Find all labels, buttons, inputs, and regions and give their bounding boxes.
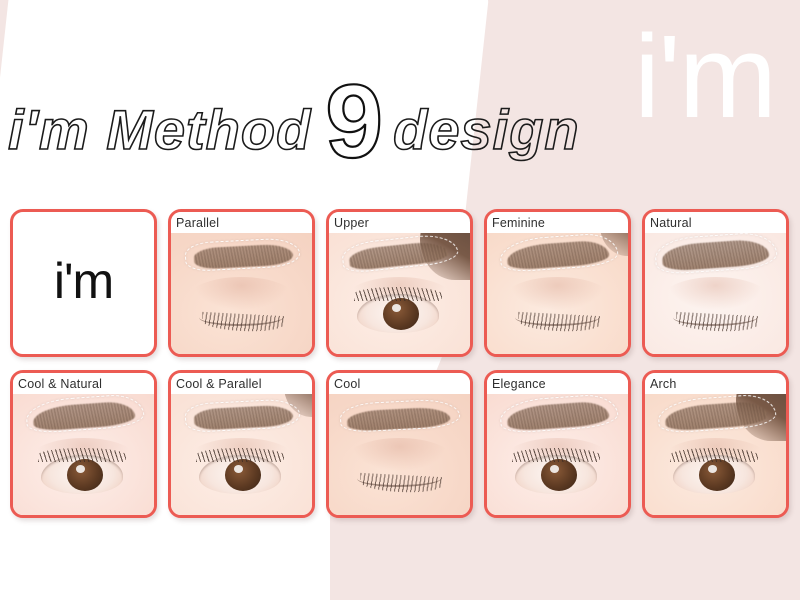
design-card-arch[interactable]: Arch xyxy=(642,370,789,518)
open-eyelashes xyxy=(196,448,283,462)
eyebrow-photo xyxy=(171,212,312,354)
iris xyxy=(699,459,735,490)
open-eyelashes xyxy=(354,287,441,301)
design-grid: i'm Parallel xyxy=(10,209,791,518)
design-card-label: Upper xyxy=(329,212,470,233)
design-card-label: Parallel xyxy=(171,212,312,233)
design-card-label: Cool & Parallel xyxy=(171,373,312,394)
design-card-label: Elegance xyxy=(487,373,628,394)
open-eyelashes xyxy=(38,448,125,462)
poster-root: i'm i'm Method 9 design i'm xyxy=(0,0,800,600)
open-eyelashes xyxy=(512,448,599,462)
design-card-cool[interactable]: Cool xyxy=(326,370,473,518)
eyebrow-photo xyxy=(171,373,312,515)
design-card-label: Feminine xyxy=(487,212,628,233)
design-card-cool-parallel[interactable]: Cool & Parallel xyxy=(168,370,315,518)
design-card-label: Natural xyxy=(645,212,786,233)
design-card-label: Cool & Natural xyxy=(13,373,154,394)
eyebrow-photo xyxy=(645,373,786,515)
title-part-two: design xyxy=(393,102,579,158)
eyebrow-photo xyxy=(329,212,470,354)
iris xyxy=(225,459,261,490)
title-number-nine: 9 xyxy=(325,70,383,174)
design-card-feminine[interactable]: Feminine xyxy=(484,209,631,357)
iris xyxy=(383,298,419,329)
logo-card-text: i'm xyxy=(54,256,113,306)
eyebrow-photo xyxy=(487,212,628,354)
open-eyelashes xyxy=(670,448,757,462)
eyebrow-photo xyxy=(645,212,786,354)
page-title: i'm Method 9 design xyxy=(8,62,580,140)
eyebrow-photo xyxy=(487,373,628,515)
design-card-natural[interactable]: Natural xyxy=(642,209,789,357)
brand-watermark: i'm xyxy=(634,18,775,136)
iris xyxy=(541,459,577,490)
eyebrow-photo xyxy=(329,373,470,515)
design-card-cool-natural[interactable]: Cool & Natural xyxy=(10,370,157,518)
design-card-elegance[interactable]: Elegance xyxy=(484,370,631,518)
eyebrow-photo xyxy=(13,373,154,515)
logo-card: i'm xyxy=(10,209,157,357)
design-card-upper[interactable]: Upper xyxy=(326,209,473,357)
iris xyxy=(67,459,103,490)
design-card-label: Arch xyxy=(645,373,786,394)
design-card-parallel[interactable]: Parallel xyxy=(168,209,315,357)
design-card-label: Cool xyxy=(329,373,470,394)
title-part-one: i'm Method xyxy=(8,102,311,158)
